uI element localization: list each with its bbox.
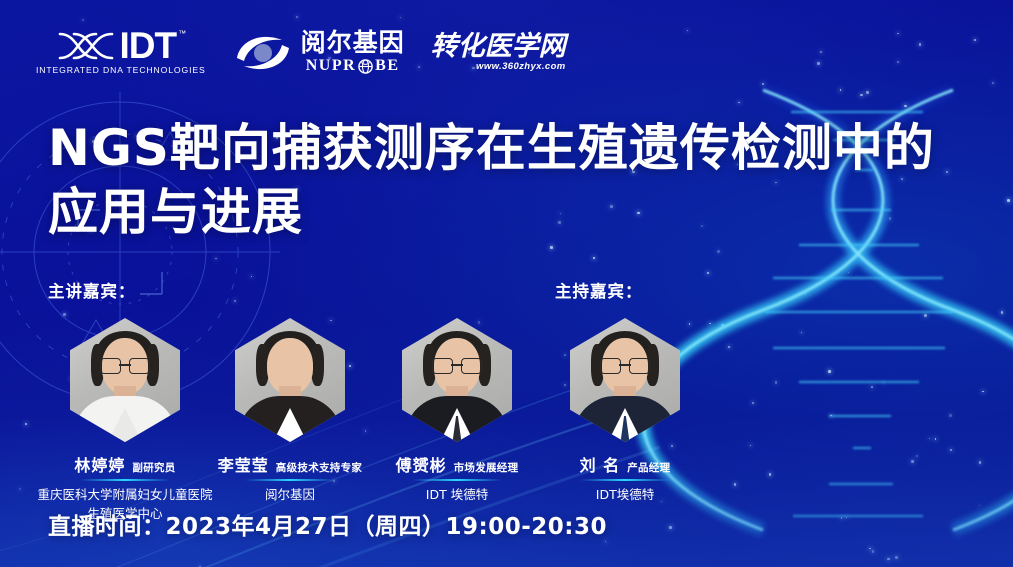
host-name: 刘 名 bbox=[580, 452, 621, 476]
avatar-host bbox=[570, 318, 680, 442]
portrait-1 bbox=[70, 318, 180, 442]
speaker-role: 副研究员 bbox=[132, 460, 175, 475]
zhyx-logo: 转化医学网 www.360zhyx.com bbox=[431, 33, 566, 72]
speakers-label: 主讲嘉宾： bbox=[48, 278, 136, 302]
nuprobe-logo: 阅尔基因 NUPR BE bbox=[232, 28, 405, 76]
portrait-host bbox=[570, 318, 680, 442]
speaker-role: 市场发展经理 bbox=[454, 460, 519, 475]
idt-tagline: INTEGRATED DNA TECHNOLOGIES bbox=[36, 65, 206, 75]
portrait-2 bbox=[235, 318, 345, 442]
avatar-1 bbox=[70, 318, 180, 442]
name-underline bbox=[245, 479, 335, 481]
zhyx-chinese: 转化医学网 bbox=[431, 33, 566, 60]
speaker-name: 傅赟彬 bbox=[396, 452, 447, 476]
speaker-org-line1: 阅尔基因 bbox=[195, 486, 385, 505]
logo-bar: IDT ™ INTEGRATED DNA TECHNOLOGIES 阅尔基因 N… bbox=[36, 28, 566, 76]
host-label: 主持嘉宾： bbox=[555, 278, 643, 302]
speaker-card-3: 傅赟彬 市场发展经理 IDT 埃德特 bbox=[362, 318, 552, 505]
nuprobe-english-right: BE bbox=[375, 58, 399, 74]
speaker-role: 高级技术支持专家 bbox=[276, 460, 362, 475]
name-underline bbox=[412, 479, 502, 481]
avatar-2 bbox=[235, 318, 345, 442]
nuprobe-english: NUPR BE bbox=[306, 58, 400, 74]
idt-letters: IDT bbox=[120, 29, 177, 63]
host-role: 产品经理 bbox=[627, 460, 670, 475]
portrait-3 bbox=[402, 318, 512, 442]
idt-logo: IDT ™ INTEGRATED DNA TECHNOLOGIES bbox=[36, 29, 206, 75]
speaker-name: 林婷婷 bbox=[74, 452, 125, 476]
avatar-3 bbox=[402, 318, 512, 442]
nuprobe-chinese: 阅尔基因 bbox=[301, 30, 405, 55]
globe-icon bbox=[358, 59, 373, 74]
zhyx-url: www.360zhyx.com bbox=[476, 61, 566, 72]
page-title: NGS靶向捕获测序在生殖遗传检测中的应用与进展 bbox=[48, 116, 978, 244]
speaker-card-2: 李莹莹 高级技术支持专家 阅尔基因 bbox=[195, 318, 385, 505]
name-underline bbox=[580, 479, 670, 481]
name-underline bbox=[80, 479, 170, 481]
broadcast-time: 直播时间：2023年4月27日（周四）19:00-20:30 bbox=[48, 507, 607, 541]
speaker-card-1: 林婷婷 副研究员 重庆医科大学附属妇女儿童医院 生殖医学中心 bbox=[30, 318, 220, 524]
nuprobe-swirl-icon bbox=[232, 28, 294, 76]
speaker-org-line1: IDT 埃德特 bbox=[362, 486, 552, 505]
speaker-name: 李莹莹 bbox=[218, 452, 269, 476]
dna-double-x-icon bbox=[56, 29, 118, 63]
trademark-icon: ™ bbox=[178, 29, 186, 38]
host-card: 刘 名 产品经理 IDT埃德特 bbox=[530, 318, 720, 505]
nuprobe-english-left: NUPR bbox=[306, 58, 356, 74]
host-org-line1: IDT埃德特 bbox=[530, 486, 720, 505]
webinar-poster: IDT ™ INTEGRATED DNA TECHNOLOGIES 阅尔基因 N… bbox=[0, 0, 1013, 567]
